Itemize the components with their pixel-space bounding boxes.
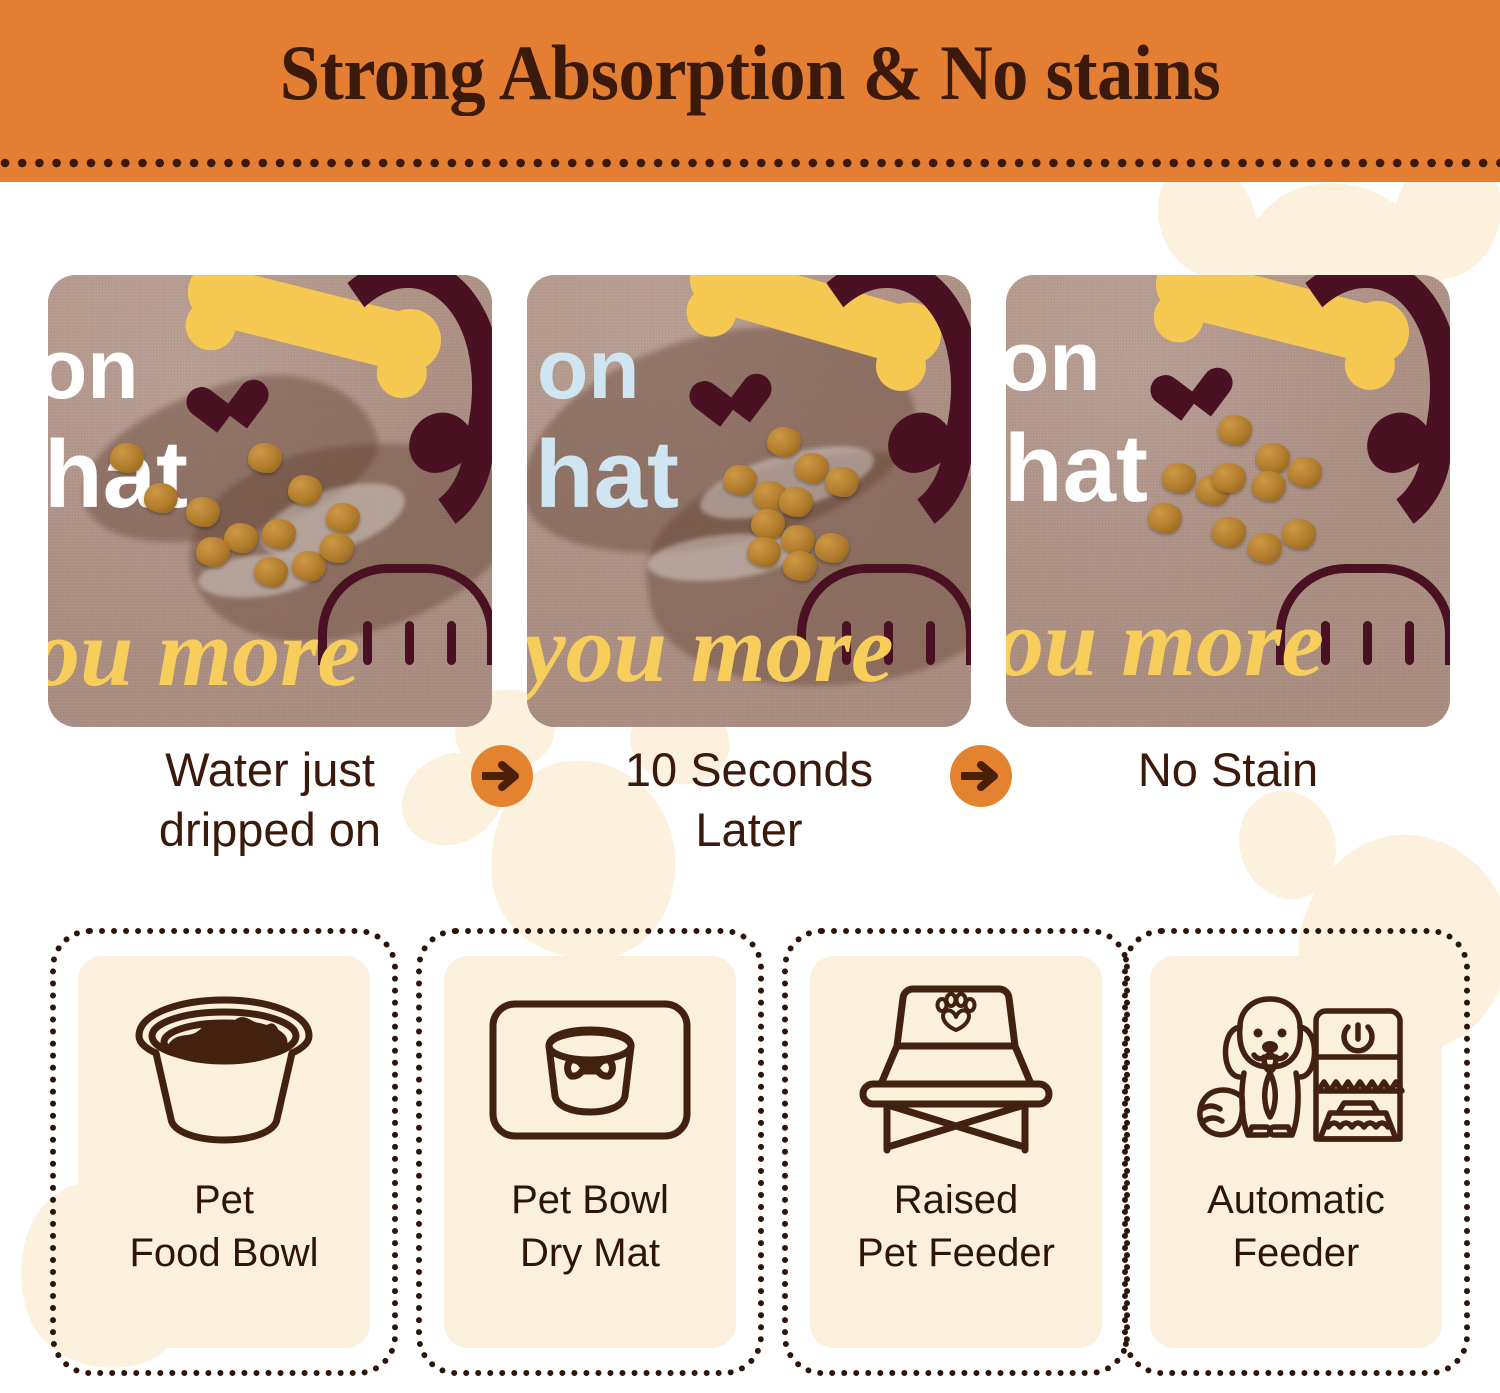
kibble-piece <box>1148 503 1182 533</box>
comparison-photo-spreading: on hat you more <box>527 275 971 727</box>
kibble-piece <box>1212 517 1246 547</box>
caption-wet: Water just dripped on <box>48 740 492 860</box>
feature-card-raised-pet-feeder[interactable]: Raised Pet Feeder <box>782 928 1130 1376</box>
mat-script-you-more: ou more <box>48 605 360 701</box>
feature-card-inner: Pet Food Bowl <box>78 956 370 1348</box>
kibble-piece <box>196 537 230 567</box>
kibble-piece <box>1162 463 1196 493</box>
header-dotted-divider <box>0 156 1500 170</box>
kibble-piece <box>262 519 296 549</box>
mat-script-you-more: you more <box>527 601 894 697</box>
feature-card-inner: Pet Bowl Dry Mat <box>444 956 736 1348</box>
pet-bowl-dry-mat-icon <box>444 956 736 1174</box>
absorption-comparison-row: on hat ou more on hat you more <box>0 275 1500 727</box>
feature-card-label: Automatic Feeder <box>1207 1174 1385 1280</box>
mat-script-you-more: ou more <box>1006 595 1324 691</box>
feature-card-inner: Automatic Feeder <box>1150 956 1442 1348</box>
kibble-piece <box>248 443 282 473</box>
kibble-piece <box>1256 443 1290 473</box>
kibble-piece <box>1212 463 1246 493</box>
feature-card-label: Pet Bowl Dry Mat <box>511 1174 669 1280</box>
automatic-feeder-icon <box>1150 956 1442 1174</box>
kibble-piece <box>1218 415 1252 445</box>
pet-food-bowl-icon <box>78 956 370 1174</box>
mat-word-that: hat <box>1006 421 1148 517</box>
caption-spreading: 10 Seconds Later <box>527 740 971 860</box>
comparison-photo-dry: on hat ou more <box>1006 275 1450 727</box>
kibble-piece <box>815 533 849 563</box>
feature-card-inner: Raised Pet Feeder <box>810 956 1102 1348</box>
kibble-piece <box>326 503 360 533</box>
heart-graphic <box>211 379 273 436</box>
raised-pet-feeder-icon <box>810 956 1102 1174</box>
feature-card-label: Pet Food Bowl <box>130 1174 319 1280</box>
kibble-piece <box>254 557 288 587</box>
kibble-piece <box>110 443 144 473</box>
feature-card-pet-food-bowl[interactable]: Pet Food Bowl <box>50 928 398 1376</box>
kibble-piece <box>1282 519 1316 549</box>
comparison-photo-wet: on hat ou more <box>48 275 492 727</box>
kibble-piece <box>186 497 220 527</box>
kibble-piece <box>751 509 785 539</box>
kibble-piece <box>1248 533 1282 563</box>
feature-card-automatic-feeder[interactable]: Automatic Feeder <box>1122 928 1470 1376</box>
kibble-piece <box>767 427 801 457</box>
mat-word-that: hat <box>535 427 679 523</box>
feature-card-pet-bowl-dry-mat[interactable]: Pet Bowl Dry Mat <box>416 928 764 1376</box>
feature-card-label: Raised Pet Feeder <box>857 1174 1055 1280</box>
kibble-piece <box>747 537 781 567</box>
page-title: Strong Absorption & No stains <box>53 28 1448 118</box>
kibble-piece <box>1252 471 1286 501</box>
mat-word-on: on <box>537 327 640 411</box>
mat-word-on: on <box>1006 319 1101 403</box>
kibble-piece <box>288 475 322 505</box>
kibble-piece <box>723 465 757 495</box>
compatible-products-row: Pet Food Bowl Pet Bowl Dry Mat <box>0 928 1500 1376</box>
kibble-piece <box>320 533 354 563</box>
mat-word-on: on <box>48 327 139 411</box>
kibble-piece <box>825 467 859 497</box>
header-banner: Strong Absorption & No stains <box>0 0 1500 182</box>
kibble-piece <box>779 487 813 517</box>
kibble-piece <box>144 483 178 513</box>
kibble-piece <box>795 453 829 483</box>
kibble-piece <box>1288 457 1322 487</box>
kibble-piece <box>783 551 817 581</box>
caption-dry: No Stain <box>1006 740 1450 800</box>
